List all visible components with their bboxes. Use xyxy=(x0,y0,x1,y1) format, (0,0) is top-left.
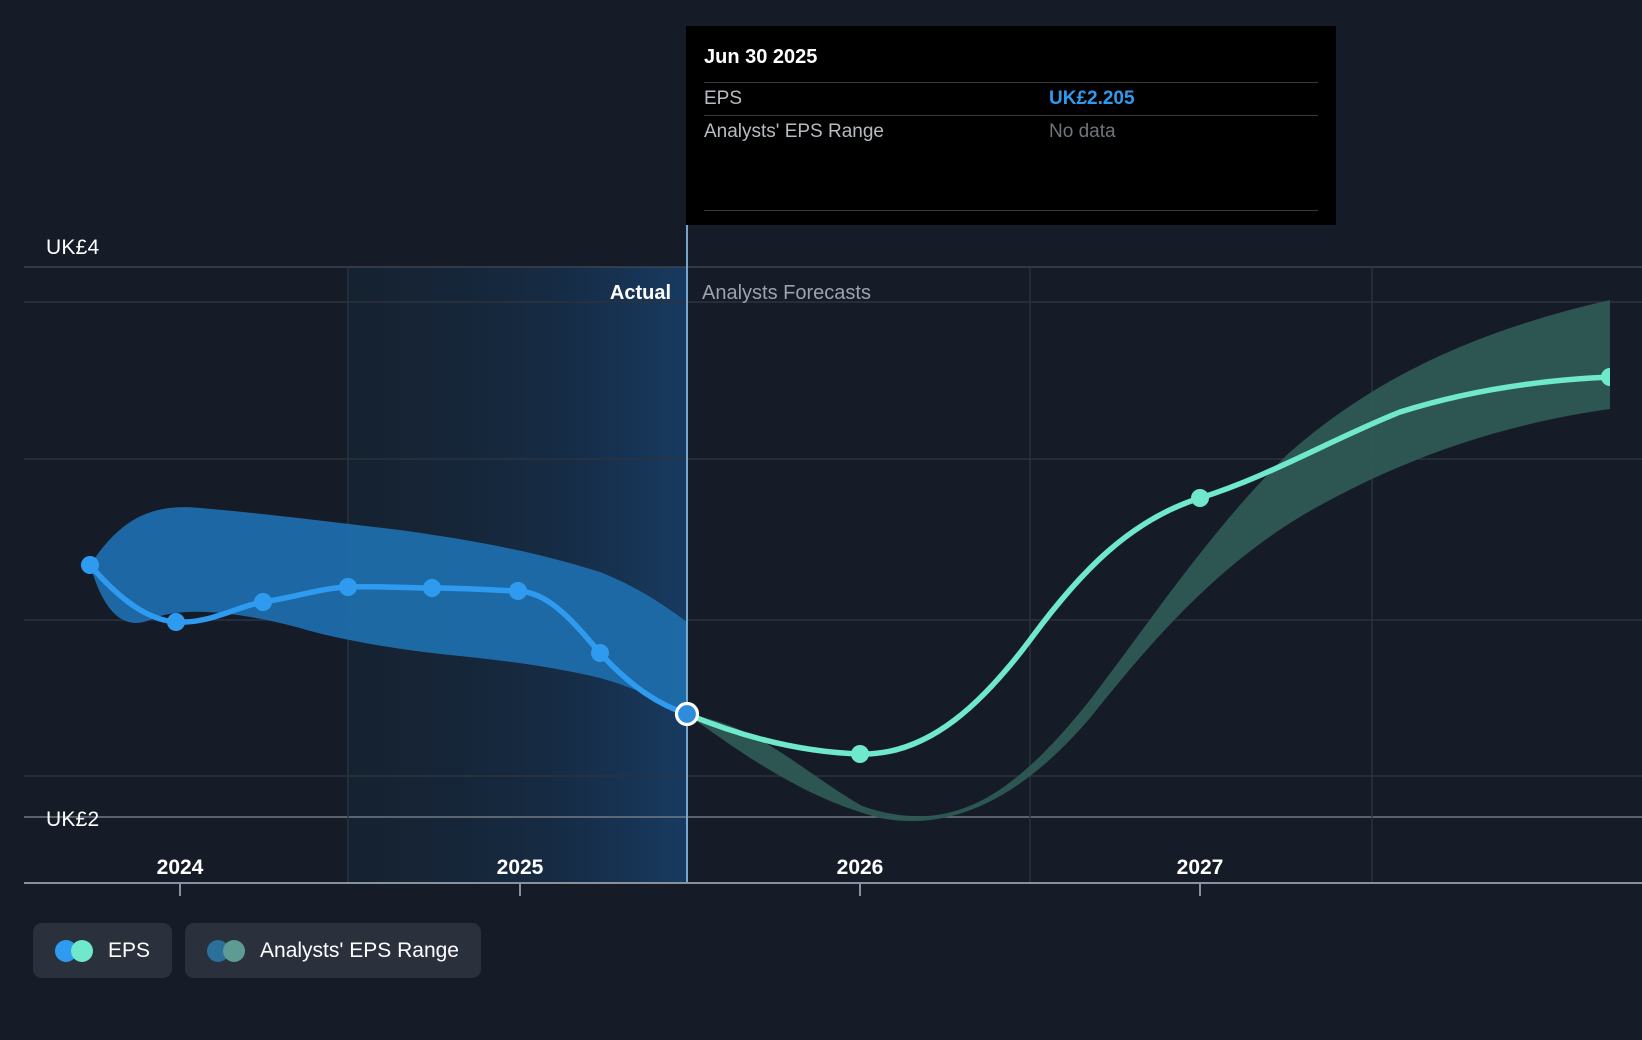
tooltip-date-title: Jun 30 2025 xyxy=(704,46,1318,82)
tooltip-row-analysts-range: Analysts' EPS Range No data xyxy=(704,115,1318,148)
tooltip-row-eps: EPS UK£2.205 xyxy=(704,82,1318,115)
analysts-range-swatch-icon xyxy=(207,940,245,962)
legend-item-eps[interactable]: EPS xyxy=(33,923,172,978)
tooltip-row-value: UK£2.205 xyxy=(1049,88,1135,110)
x-axis-tick-label-2024: 2024 xyxy=(157,856,204,880)
y-axis-tick-label-lower: UK£2 xyxy=(46,808,99,832)
x-axis-tick-label-2026: 2026 xyxy=(837,856,884,880)
forecast-phase-label: Analysts Forecasts xyxy=(702,282,871,305)
y-axis-tick-label-upper: UK£4 xyxy=(46,236,99,260)
eps-forecast-chart: UK£4 UK£2 2024 2025 2026 2027 Actual Ana… xyxy=(0,0,1642,1040)
forecast-range-band xyxy=(687,294,1642,821)
eps-swatch-icon xyxy=(55,940,93,962)
chart-legend: EPS Analysts' EPS Range xyxy=(33,923,481,978)
x-axis-tick-label-2027: 2027 xyxy=(1177,856,1224,880)
tooltip-row-value: No data xyxy=(1049,121,1116,143)
tooltip-row-label: Analysts' EPS Range xyxy=(704,121,1049,143)
highlighted-data-point[interactable] xyxy=(677,704,698,725)
x-axis-tick-label-2025: 2025 xyxy=(497,856,544,880)
legend-item-analysts-eps-range[interactable]: Analysts' EPS Range xyxy=(185,923,481,978)
actual-phase-label: Actual xyxy=(610,282,671,305)
legend-item-label: Analysts' EPS Range xyxy=(260,939,459,963)
x-axis-ticks xyxy=(180,883,1200,896)
tooltip-row-label: EPS xyxy=(704,88,1049,110)
chart-tooltip: Jun 30 2025 EPS UK£2.205 Analysts' EPS R… xyxy=(686,26,1336,225)
tooltip-divider xyxy=(704,210,1318,211)
legend-item-label: EPS xyxy=(108,939,150,963)
